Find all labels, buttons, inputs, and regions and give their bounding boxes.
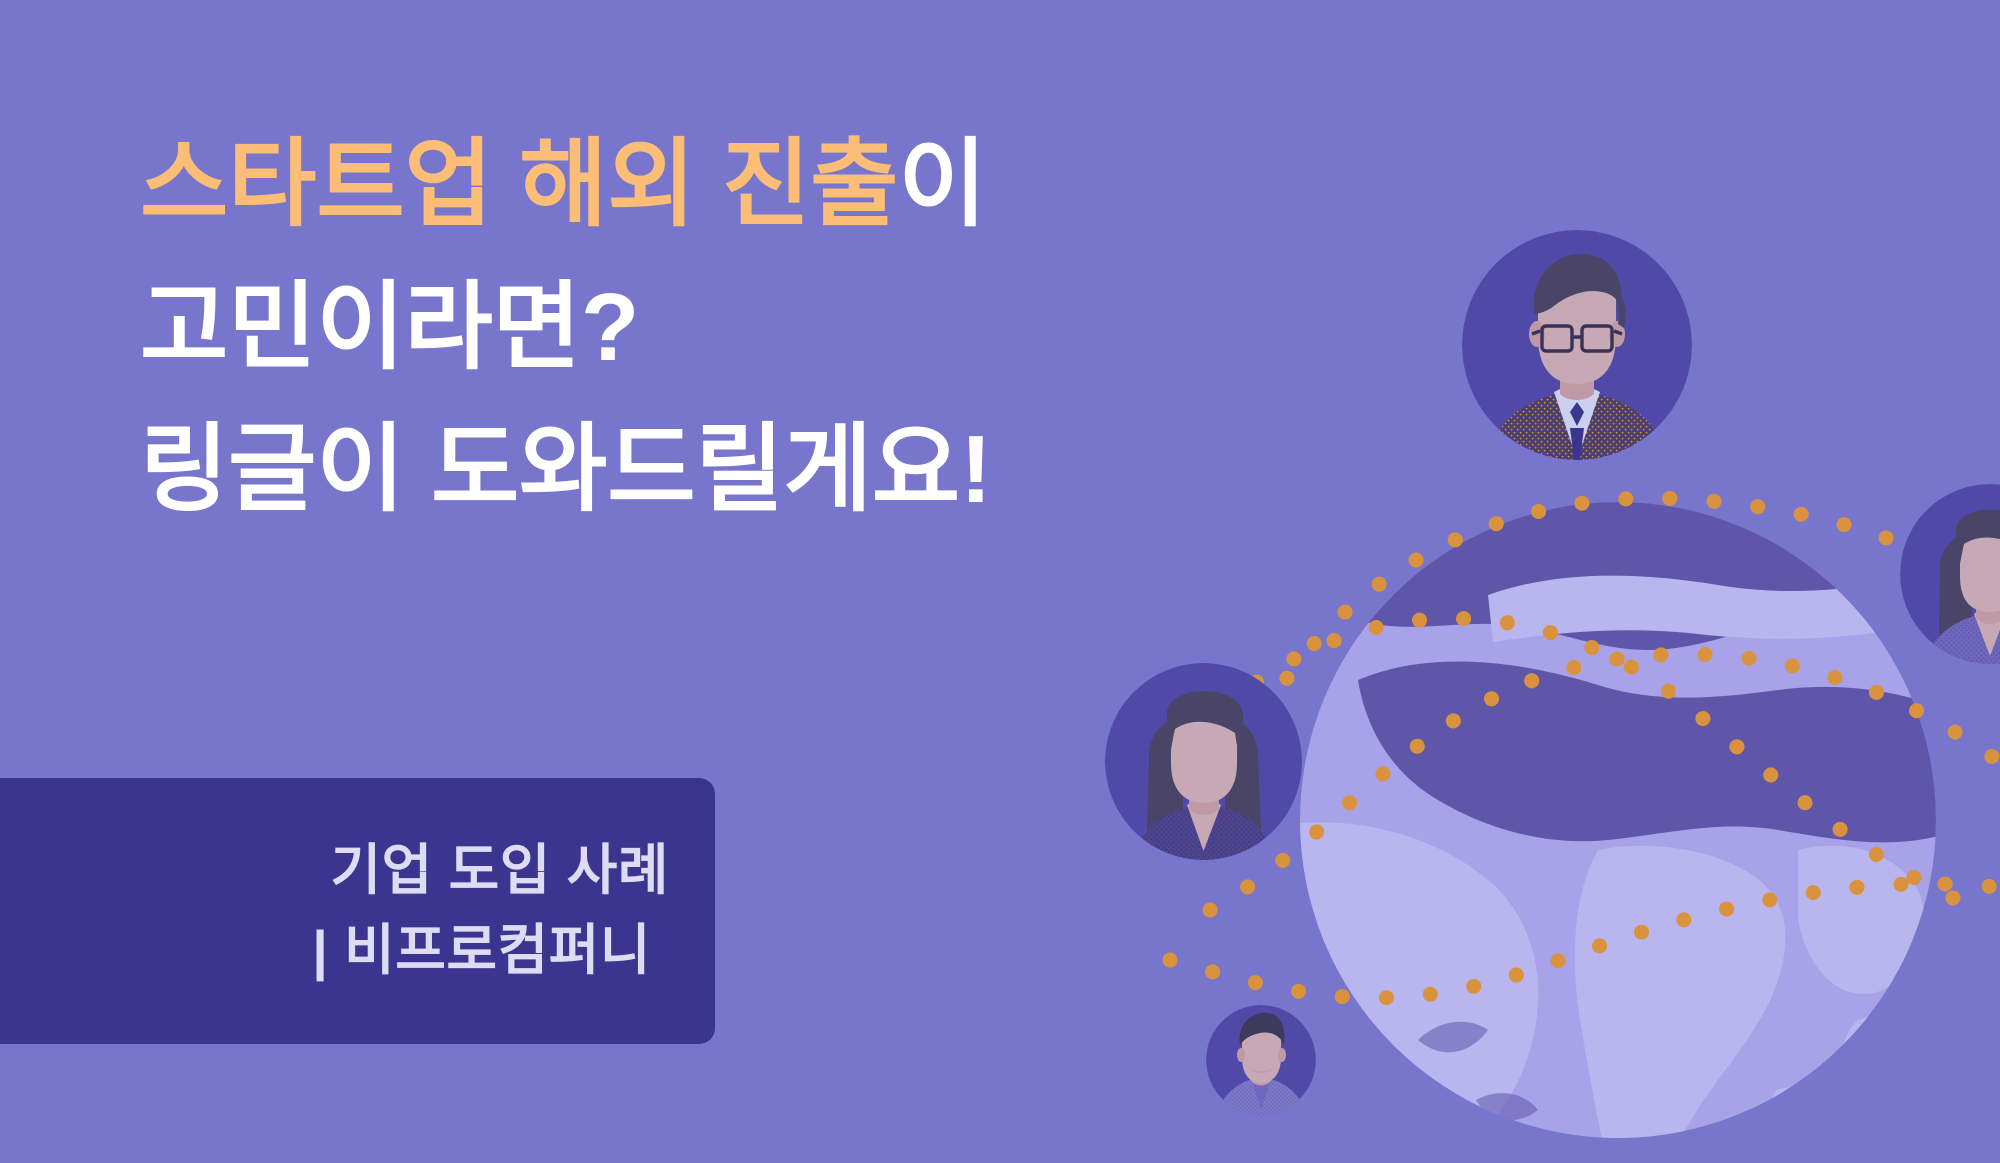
headline-line-1: 스타트업 해외 진출이 <box>140 122 992 249</box>
case-study-badge: 기업 도입 사례 | 비프로컴퍼니 <box>0 778 715 1044</box>
headline-line-3: 링글이 도와드릴게요! <box>140 407 992 534</box>
badge-line-2: | 비프로컴퍼니 <box>312 911 669 991</box>
headline: 스타트업 해외 진출이 고민이라면? 링글이 도와드릴게요! <box>140 122 992 534</box>
businessman-avatar <box>1462 230 1692 460</box>
headline-line-2: 고민이라면? <box>140 265 992 392</box>
headline-line-1-suffix: 이 <box>898 131 986 238</box>
headline-accent-text: 스타트업 해외 진출 <box>140 131 898 238</box>
badge-line-1: 기업 도입 사례 <box>330 831 669 911</box>
woman-avatar <box>1105 663 1302 860</box>
promo-banner: 스타트업 해외 진출이 고민이라면? 링글이 도와드릴게요! 기업 도입 사례 … <box>0 0 2000 1163</box>
man-avatar-small <box>1206 1005 1316 1115</box>
world-globe <box>1298 500 1938 1140</box>
